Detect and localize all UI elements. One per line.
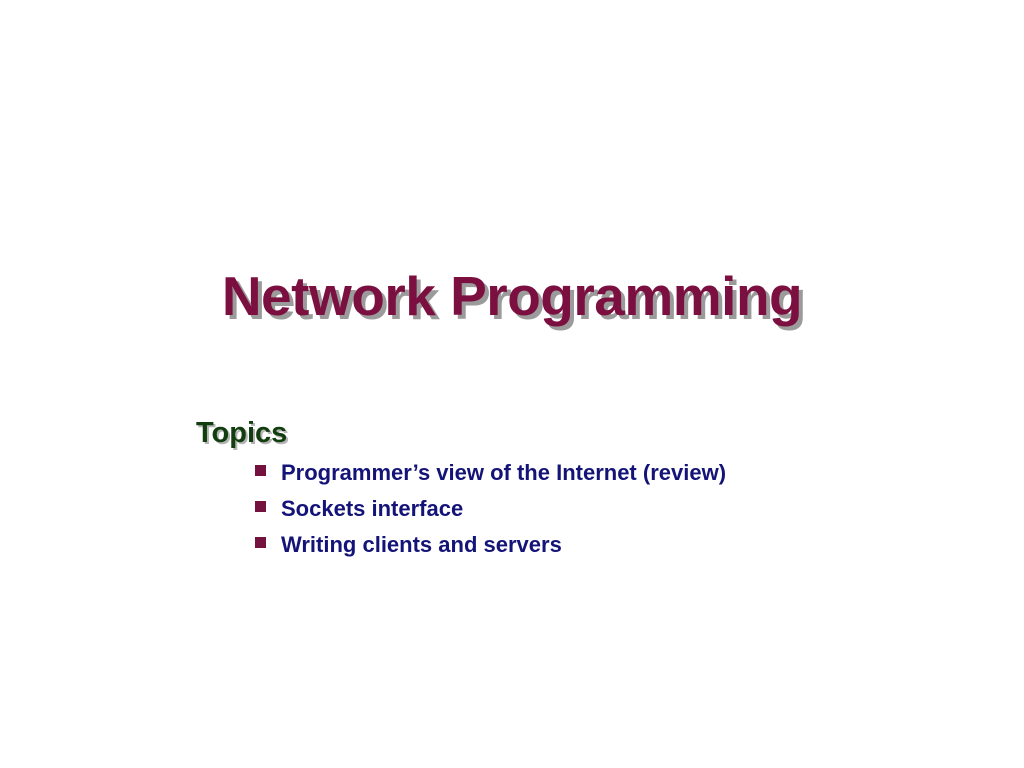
list-item: Sockets interface xyxy=(255,491,956,527)
list-item-label: Writing clients and servers xyxy=(281,527,562,563)
section-heading-topics: Topics xyxy=(196,418,956,449)
list-item-label: Sockets interface xyxy=(281,491,463,527)
page-title: Network Programming xyxy=(0,269,1024,324)
topics-bullet-list: Programmer’s view of the Internet (revie… xyxy=(196,455,956,563)
slide-body: Topics Programmer’s view of the Internet… xyxy=(196,418,956,563)
list-item: Writing clients and servers xyxy=(255,527,956,563)
square-bullet-icon xyxy=(255,465,266,476)
list-item-label: Programmer’s view of the Internet (revie… xyxy=(281,455,726,491)
square-bullet-icon xyxy=(255,501,266,512)
list-item: Programmer’s view of the Internet (revie… xyxy=(255,455,956,491)
square-bullet-icon xyxy=(255,537,266,548)
slide-canvas: Network Programming Topics Programmer’s … xyxy=(0,0,1024,768)
